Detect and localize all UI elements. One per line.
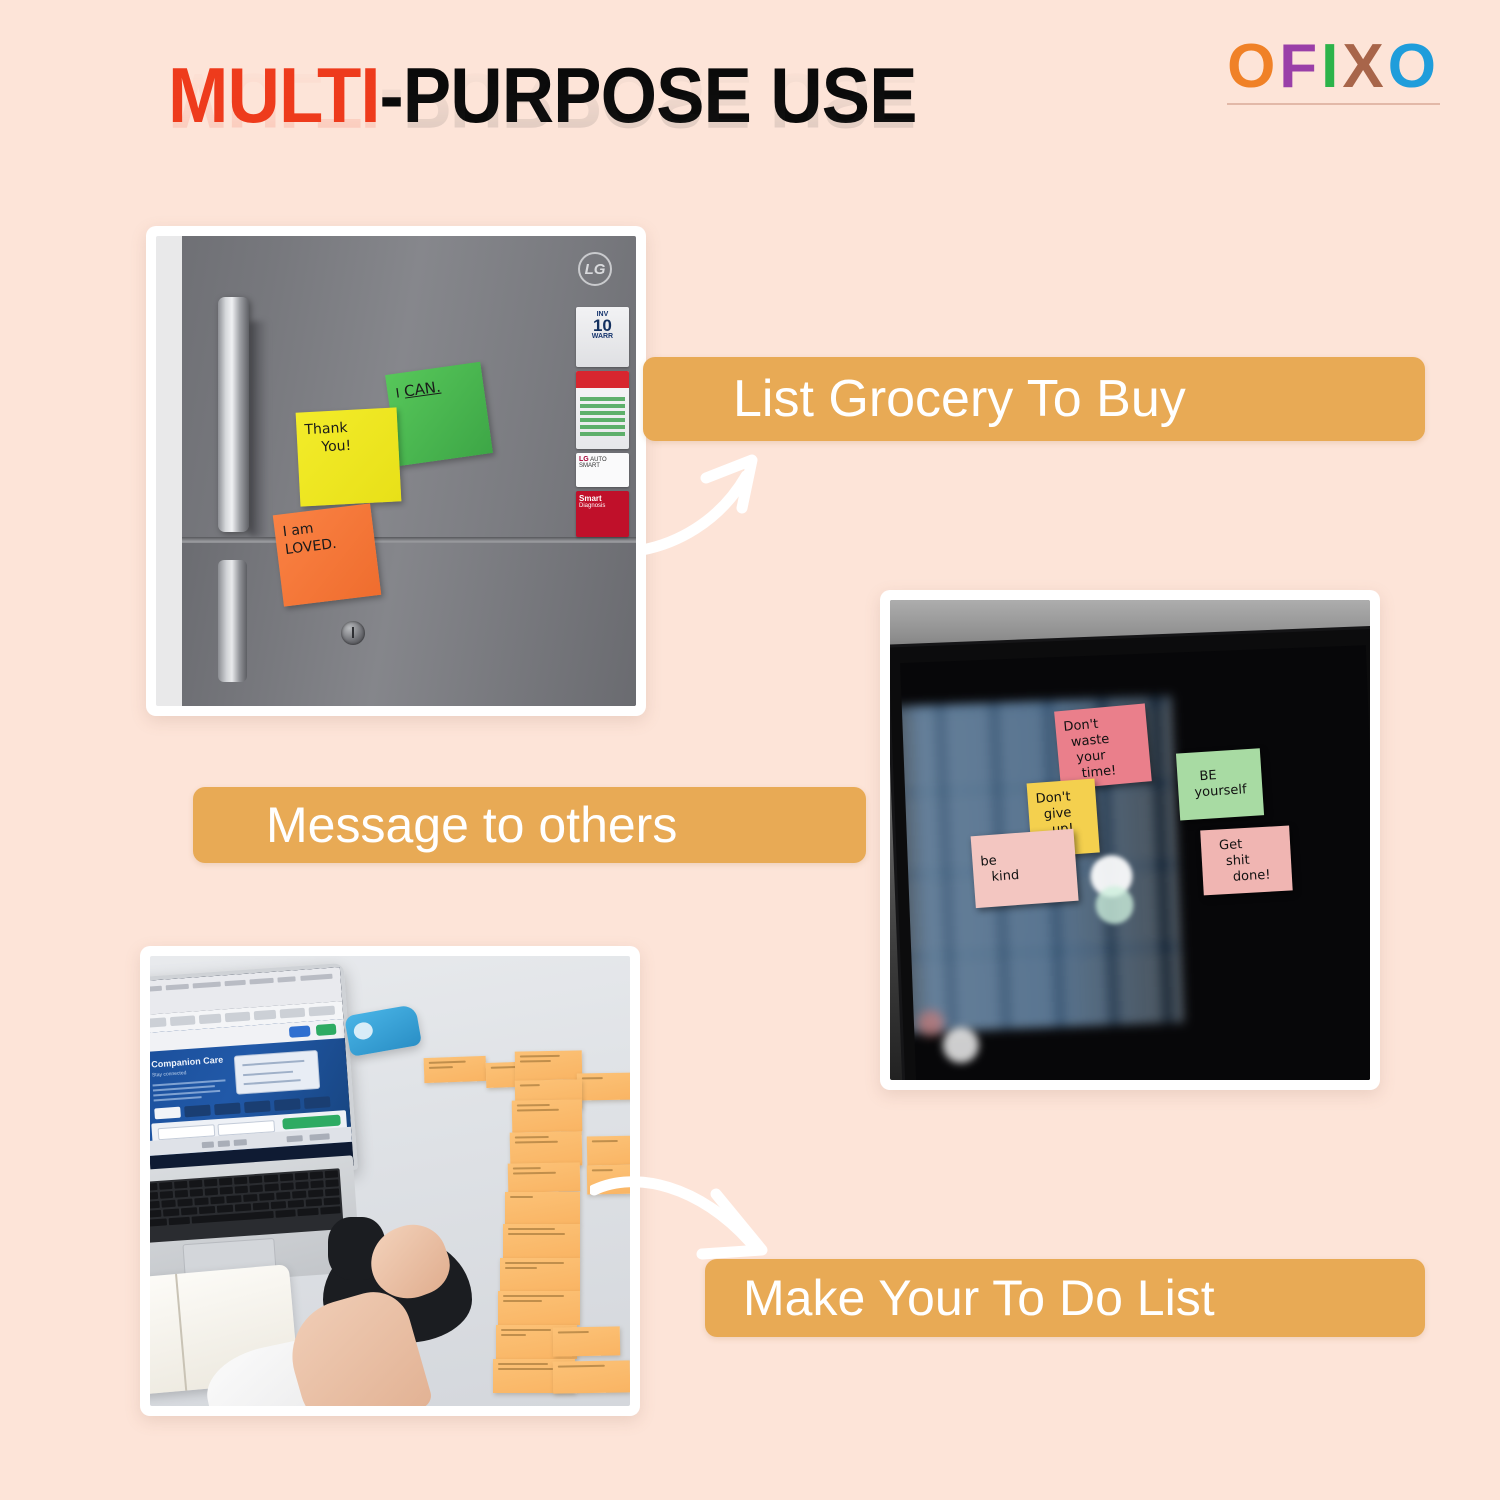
desk-note (423, 1056, 486, 1083)
sticky-note-orange-i-am-loved: I am LOVED. (273, 503, 382, 606)
banner-label: List Grocery To Buy (733, 369, 1186, 429)
desk-note (505, 1192, 579, 1224)
monitor-screen: Don't waste your time! Don't give up! be… (900, 645, 1370, 1080)
desk-note (500, 1258, 579, 1292)
desk-note (553, 1327, 621, 1357)
logo-letter-o2: O (1388, 36, 1440, 98)
sticky-note-be-kind: be kind (971, 829, 1079, 908)
fridge-handle-lower (218, 560, 247, 682)
desk-note (503, 1224, 580, 1258)
sticker-energy-bars (580, 397, 624, 439)
sticky-note-yellow-thank-you: Thank You! (295, 407, 401, 506)
photo-refrigerator: LG INV10WARR LG AUTO SMART SmartDiagnosi… (146, 226, 646, 716)
desk-note (498, 1291, 580, 1325)
banner-make-todo-list[interactable]: Make Your To Do List (705, 1259, 1425, 1337)
web-page-submit-button[interactable] (282, 1114, 341, 1129)
sticker-star-band (576, 371, 629, 388)
sticky-note-get-shit-done: Get shit done! (1200, 826, 1292, 896)
desk-note (515, 1050, 583, 1080)
photo-monitor: Don't waste your time! Don't give up! be… (880, 590, 1380, 1090)
desk-note (512, 1099, 582, 1132)
sticker-energy-rating (576, 371, 629, 449)
photo-desk-image: Companion Care Stay connected (150, 956, 630, 1406)
fridge-handle-upper (218, 297, 249, 532)
web-page-content: Companion Care Stay connected (150, 1018, 353, 1155)
photo-desk-workflow: Companion Care Stay connected (140, 946, 640, 1416)
sticker-inverter: INV10WARR (576, 307, 629, 367)
desk-note (510, 1131, 583, 1166)
note-line-3: done! (1210, 867, 1283, 887)
note-line-2: CAN. (403, 377, 442, 400)
logo-letter-o1: O (1227, 36, 1279, 98)
arrow-up-right-icon (640, 438, 790, 558)
title-rest: -PURPOSE USE (380, 51, 917, 139)
banner-list-grocery[interactable]: List Grocery To Buy (643, 357, 1425, 441)
infographic-stage: MULTI-PURPOSE USE MULTI-PURPOSE USE OFIX… (0, 0, 1500, 1500)
fridge-sticker-group: INV10WARR LG AUTO SMART SmartDiagnosis (576, 307, 629, 541)
logo-underline (1227, 103, 1440, 105)
fridge-handle-shadow (249, 321, 268, 537)
page-title: MULTI-PURPOSE USE (168, 56, 917, 134)
logo-letter-f: F (1279, 36, 1321, 98)
sticker-auto-smart: LG AUTO SMART (576, 453, 629, 487)
desk-note (507, 1162, 579, 1193)
desk-note (553, 1360, 630, 1393)
web-page-option-card (235, 1050, 321, 1095)
photo-refrigerator-image: LG INV10WARR LG AUTO SMART SmartDiagnosi… (156, 236, 636, 706)
sticky-note-dont-waste-your-time: Don't waste your time! (1054, 704, 1152, 790)
laptop-display: Companion Care Stay connected (150, 967, 354, 1180)
monitor-bezel: Don't waste your time! Don't give up! be… (890, 629, 1370, 1080)
web-page-subtitle: Stay connected (152, 1070, 187, 1078)
laptop-screen-lid: Companion Care Stay connected (150, 962, 359, 1183)
sticker-smart-diagnosis: SmartDiagnosis (576, 491, 629, 537)
web-page-body-lines (153, 1078, 227, 1103)
sticky-note-green-i-can: I CAN. (385, 361, 493, 465)
sign-up-button[interactable] (316, 1023, 337, 1035)
banner-message-to-others[interactable]: Message to others (193, 787, 866, 863)
desk-note (587, 1165, 630, 1195)
bokeh-light-4 (918, 1010, 945, 1037)
banner-label: Make Your To Do List (743, 1269, 1215, 1327)
brand-logo-text: OFIXO (1227, 36, 1440, 98)
sign-in-button[interactable] (290, 1025, 311, 1037)
note-line-1: I (395, 386, 401, 401)
banner-label: Message to others (266, 796, 677, 854)
desk-note (587, 1135, 630, 1165)
web-page-title: Companion Care (151, 1054, 224, 1069)
desk-note (577, 1072, 630, 1100)
logo-letter-i: I (1321, 36, 1342, 98)
title-highlight: MULTI (168, 51, 380, 139)
fridge-lower-door (182, 543, 636, 706)
photo-monitor-image: Don't waste your time! Don't give up! be… (890, 600, 1370, 1080)
note-line-2: yourself (1186, 782, 1255, 802)
sticky-note-be-yourself: BE yourself (1176, 749, 1264, 822)
bokeh-light-3 (942, 1026, 979, 1063)
laptop-keyboard[interactable] (150, 1168, 344, 1243)
brand-logo: OFIXO (1227, 36, 1440, 105)
logo-letter-x: X (1342, 36, 1387, 98)
